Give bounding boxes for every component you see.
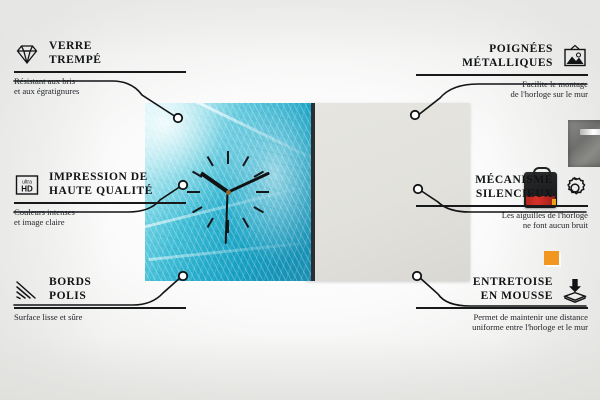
diamond-icon [14, 41, 40, 67]
feature-title: ENTRETOISE EN MOUSSE [473, 276, 553, 303]
svg-text:HD: HD [21, 184, 33, 193]
feature-subtitle: Surface lisse et sûre [14, 312, 186, 323]
feature-header: ultra HD IMPRESSION DE HAUTE QUALITÉ [14, 171, 186, 198]
gear-icon [562, 175, 588, 201]
feature-divider [416, 307, 588, 309]
feature-subtitle: Permet de maintenir une distance uniform… [416, 312, 588, 333]
feature-header: POIGNÉES MÉTALLIQUES [416, 43, 588, 70]
hanger-slot [580, 129, 600, 135]
metal-hanger-plate [568, 120, 600, 167]
foam-spacer [544, 251, 559, 265]
feature-bords-polis[interactable]: BORDS POLIS Surface lisse et sûre [14, 276, 186, 322]
feature-subtitle: Facilite le montage de l'horloge sur le … [416, 79, 588, 100]
feature-title: POIGNÉES MÉTALLIQUES [462, 43, 553, 70]
feature-divider [416, 74, 588, 76]
picture-frame-hanger-icon [562, 44, 588, 70]
feature-header: MÉCANISME SILENCIEUX [416, 174, 588, 201]
polished-edges-icon [14, 277, 40, 303]
feature-header: VERRE TREMPÉ [14, 40, 186, 67]
feature-subtitle: Résistant aux bris et aux égratignures [14, 76, 186, 97]
clock-center-hub [226, 190, 231, 195]
feature-divider [14, 71, 186, 73]
feature-divider [14, 307, 186, 309]
feature-header: BORDS POLIS [14, 276, 186, 303]
infographic-canvas: VERRE TREMPÉ Résistant aux bris et aux é… [0, 0, 600, 400]
feature-poignees-metalliques[interactable]: POIGNÉES MÉTALLIQUES Facilite le montage… [416, 43, 588, 100]
feature-subtitle: Couleurs intenses et image claire [14, 207, 186, 228]
feature-title: IMPRESSION DE HAUTE QUALITÉ [49, 171, 153, 198]
feature-title: BORDS POLIS [49, 276, 91, 303]
feature-divider [14, 202, 186, 204]
feature-header: ENTRETOISE EN MOUSSE [416, 276, 588, 303]
feature-mecanisme-silencieux[interactable]: MÉCANISME SILENCIEUX Les aiguilles de l'… [416, 174, 588, 231]
feature-subtitle: Les aiguilles de l'horloge ne font aucun… [416, 210, 588, 231]
ultra-hd-icon: ultra HD [14, 172, 40, 198]
feature-entretoise-en-mousse[interactable]: ENTRETOISE EN MOUSSE Permet de maintenir… [416, 276, 588, 333]
foam-spacer-arrow-icon [562, 277, 588, 303]
feature-impression-haute-qualite[interactable]: ultra HD IMPRESSION DE HAUTE QUALITÉ Cou… [14, 171, 186, 228]
feature-title: VERRE TREMPÉ [49, 40, 102, 67]
feature-divider [416, 205, 588, 207]
feature-verre-trempe[interactable]: VERRE TREMPÉ Résistant aux bris et aux é… [14, 40, 186, 97]
feature-title: MÉCANISME SILENCIEUX [475, 174, 553, 201]
